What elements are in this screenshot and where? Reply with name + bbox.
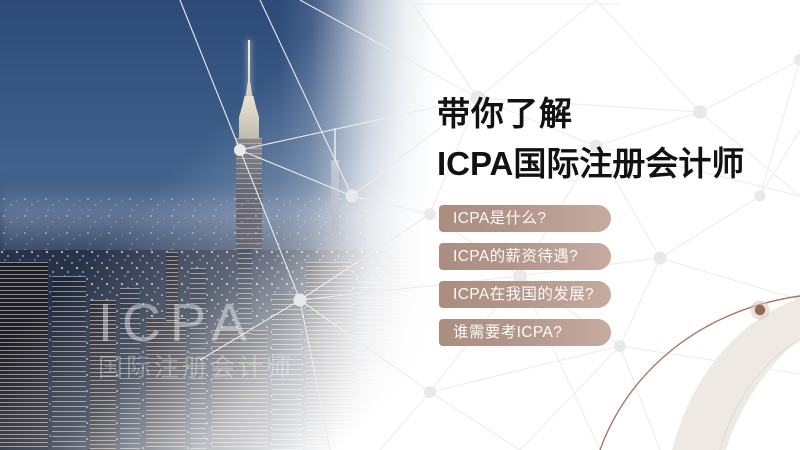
question-pill-what-is-icpa[interactable]: ICPA是什么? bbox=[439, 205, 611, 232]
question-pill-icpa-salary[interactable]: ICPA的薪资待遇? bbox=[439, 243, 611, 270]
icpa-promo-banner: ICPA 国际注册会计师 bbox=[0, 0, 800, 450]
page-title-line1: 带你了解 bbox=[437, 96, 573, 133]
question-pill-who-should-take[interactable]: 谁需要考ICPA? bbox=[439, 319, 611, 346]
question-pill-icpa-in-china[interactable]: ICPA在我国的发展? bbox=[439, 281, 611, 308]
city-skyline-photo bbox=[0, 0, 450, 450]
question-pill-list: ICPA是什么? ICPA的薪资待遇? ICPA在我国的发展? 谁需要考ICPA… bbox=[439, 205, 611, 357]
page-title-line2: ICPA国际注册会计师 bbox=[437, 146, 744, 183]
photo-corner-fade bbox=[0, 0, 450, 450]
text-content: 带你了解 ICPA国际注册会计师 ICPA是什么? ICPA的薪资待遇? ICP… bbox=[437, 0, 800, 450]
